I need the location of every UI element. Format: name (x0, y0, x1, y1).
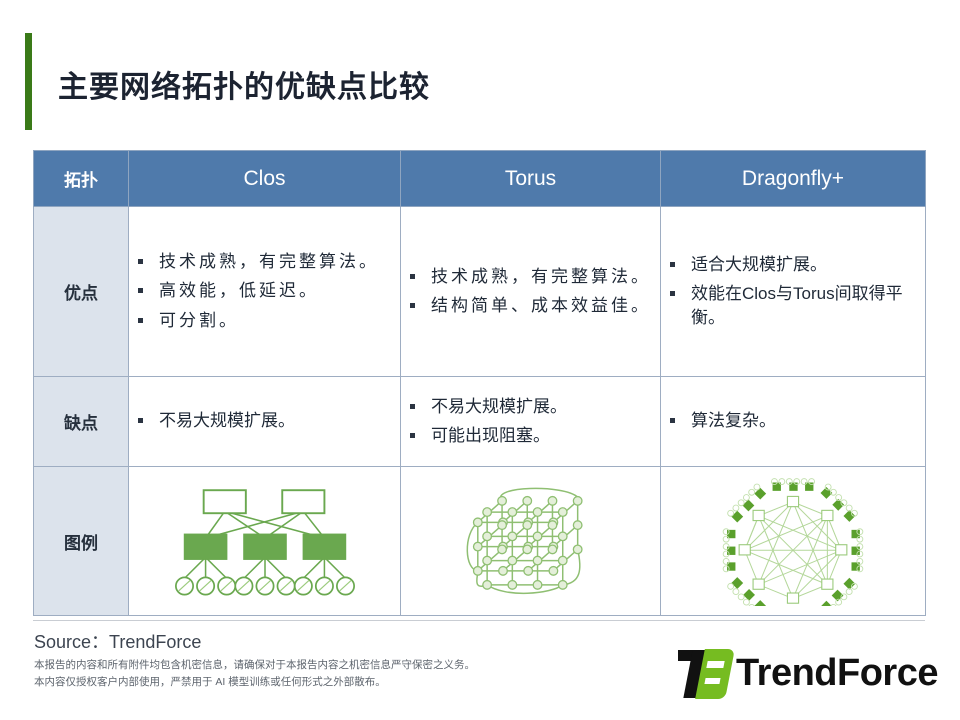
slide: TrendForce 主要网络拓扑的优缺点比较 拓扑 Clos Torus Dr… (0, 0, 960, 720)
table-header-torus: Torus (401, 151, 661, 207)
list-item: 效能在Clos与Torus间取得平衡。 (661, 282, 925, 330)
table-row: 优点 技术成熟，有完整算法。 高效能，低延迟。 可分割。 技术成熟，有完整算法。… (34, 207, 926, 377)
cell-diagram-torus (401, 467, 661, 616)
list-item: 不易大规模扩展。 (129, 409, 400, 433)
list-item: 技术成熟，有完整算法。 (401, 265, 660, 289)
list-item: 技术成熟，有完整算法。 (129, 250, 400, 274)
disclaimer-line-1: 本报告的内容和所有附件均包含机密信息，请确保对于本报告内容之机密信息严守保密之义… (34, 657, 475, 674)
cell-disadvantages-clos: 不易大规模扩展。 (129, 377, 401, 467)
list-item: 可能出现阻塞。 (401, 424, 660, 448)
table-row: 图例 (34, 467, 926, 616)
list-item: 适合大规模扩展。 (661, 253, 925, 277)
list-item: 可分割。 (129, 309, 400, 333)
row-label-disadvantages: 缺点 (34, 377, 129, 467)
clos-topology-diagram (150, 477, 380, 605)
table-header-clos: Clos (129, 151, 401, 207)
list-item: 高效能，低延迟。 (129, 279, 400, 303)
trendforce-logo: TrendForce (676, 645, 938, 701)
trendforce-logo-icon (676, 647, 732, 699)
cell-diagram-dragonfly (661, 467, 926, 616)
row-label-advantages: 优点 (34, 207, 129, 377)
cell-advantages-torus: 技术成熟，有完整算法。 结构简单、成本效益佳。 (401, 207, 661, 377)
disclaimer: 本报告的内容和所有附件均包含机密信息，请确保对于本报告内容之机密信息严守保密之义… (34, 657, 475, 692)
list-item: 不易大规模扩展。 (401, 395, 660, 419)
page-title: 主要网络拓扑的优缺点比较 (58, 62, 430, 106)
trendforce-logo-text: TrendForce (736, 652, 938, 695)
table-row: 缺点 不易大规模扩展。 不易大规模扩展。 可能出现阻塞。 算法复杂。 (34, 377, 926, 467)
cell-advantages-dragonfly: 适合大规模扩展。 效能在Clos与Torus间取得平衡。 (661, 207, 926, 377)
cell-disadvantages-dragonfly: 算法复杂。 (661, 377, 926, 467)
row-label-diagram: 图例 (34, 467, 129, 616)
list-item: 结构简单、成本效益佳。 (401, 294, 660, 318)
table-header-row: 拓扑 Clos Torus Dragonfly+ (34, 151, 926, 207)
cell-diagram-clos (129, 467, 401, 616)
dragonfly-topology-diagram (718, 476, 868, 606)
comparison-table: 拓扑 Clos Torus Dragonfly+ 优点 技术成熟，有完整算法。 … (33, 150, 926, 616)
footer-divider (33, 620, 925, 621)
table-header-dragonfly: Dragonfly+ (661, 151, 926, 207)
title-accent-bar (25, 33, 32, 130)
disclaimer-line-2: 本内容仅授权客户内部使用，严禁用于 AI 模型训练或任何形式之外部散布。 (34, 674, 475, 691)
torus-topology-diagram (461, 477, 601, 605)
source-label: Source：TrendForce (34, 628, 201, 654)
cell-advantages-clos: 技术成熟，有完整算法。 高效能，低延迟。 可分割。 (129, 207, 401, 377)
cell-disadvantages-torus: 不易大规模扩展。 可能出现阻塞。 (401, 377, 661, 467)
list-item: 算法复杂。 (661, 409, 925, 433)
table-header-topology: 拓扑 (34, 151, 129, 207)
